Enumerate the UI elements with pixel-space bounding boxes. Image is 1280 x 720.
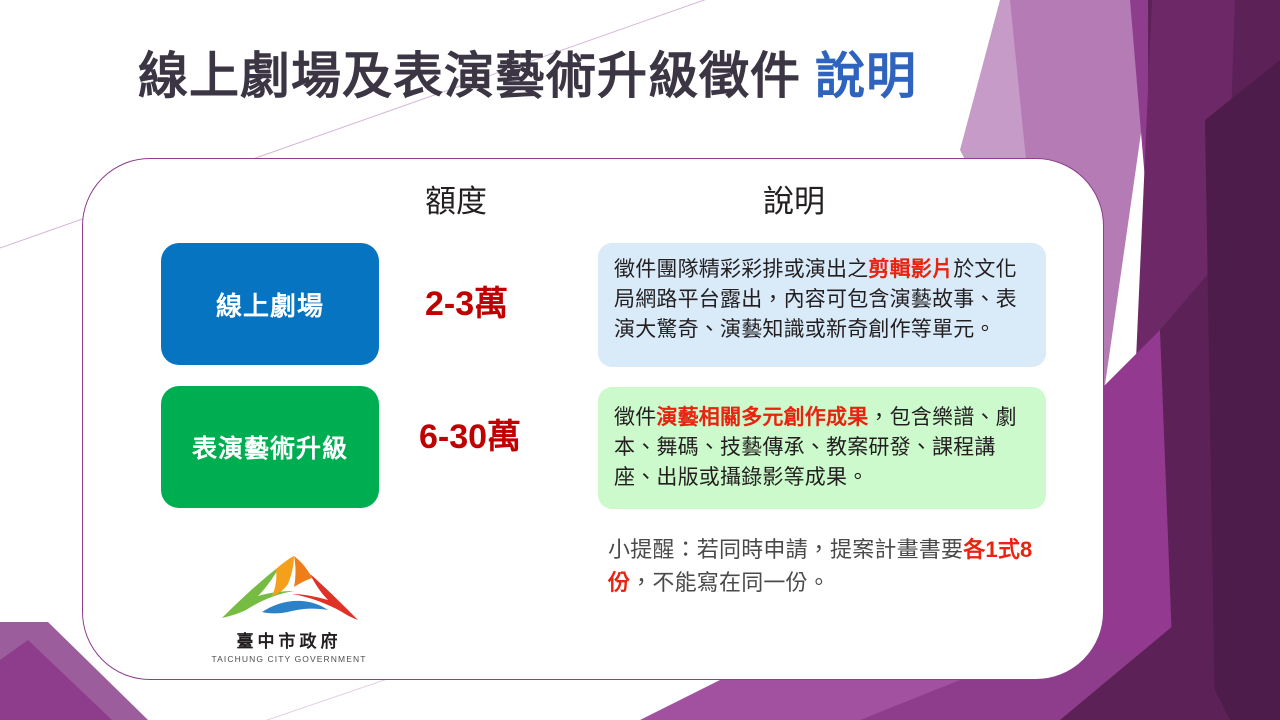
slide-canvas: 線上劇場及表演藝術升級徵件說明 額度 說明 線上劇場 2-3萬 徵件團隊精彩彩排… <box>0 0 1280 720</box>
category-pill-performing-arts-upgrade[interactable]: 表演藝術升級 <box>161 386 379 508</box>
highlighted-text: 演藝相關多元創作成果 <box>656 406 868 429</box>
logo-orange-peak <box>272 556 294 596</box>
page-title-accent: 說明 <box>815 48 917 104</box>
logo-name-en: TAICHUNG CITY GOVERNMENT <box>196 654 382 664</box>
body-text: ，不能寫在同一份。 <box>630 570 830 595</box>
description-online-theater: 徵件團隊精彩彩排或演出之剪輯影片於文化局網路平台露出，內容可包含演藝故事、表演大… <box>598 243 1046 367</box>
deco-shape-mid-right <box>1105 0 1280 720</box>
deco-shape-mid-right-2 <box>1120 0 1235 720</box>
taichung-city-government-logo: 臺中市政府 TAICHUNG CITY GOVERNMENT <box>196 556 382 668</box>
highlighted-text: 剪輯影片 <box>868 258 953 281</box>
reminder-note: 小提醒：若同時申請，提案計畫書要各1式8份，不能寫在同一份。 <box>608 533 1048 599</box>
body-text: 小提醒：若同時申請，提案計畫書要 <box>608 537 963 562</box>
amount-online-theater: 2-3萬 <box>425 287 508 321</box>
logo-orange-peak-right <box>294 556 312 587</box>
deco-shape-dark-right-2 <box>1160 190 1280 720</box>
category-pill-online-theater[interactable]: 線上劇場 <box>161 243 379 365</box>
body-text: 徵件 <box>614 406 656 429</box>
description-performing-arts-upgrade: 徵件演藝相關多元創作成果，包含樂譜、劇本、舞碼、技藝傳承、教案研發、課程講座、出… <box>598 387 1046 509</box>
deco-shape-dark-right-3 <box>1205 60 1280 720</box>
page-title: 線上劇場及表演藝術升級徵件說明 <box>138 48 917 106</box>
column-header-description: 說明 <box>763 186 825 217</box>
mountain-logo-icon <box>206 556 372 626</box>
page-title-main: 線上劇場及表演藝術升級徵件 <box>138 48 801 104</box>
deco-shape-dark-right <box>1148 0 1280 720</box>
logo-name-zh: 臺中市政府 <box>196 627 382 652</box>
amount-performing-arts-upgrade: 6-30萬 <box>419 420 521 454</box>
logo-blue-wave <box>262 601 328 614</box>
body-text: 徵件團隊精彩彩排或演出之 <box>614 258 868 281</box>
column-header-quota: 額度 <box>425 186 487 217</box>
